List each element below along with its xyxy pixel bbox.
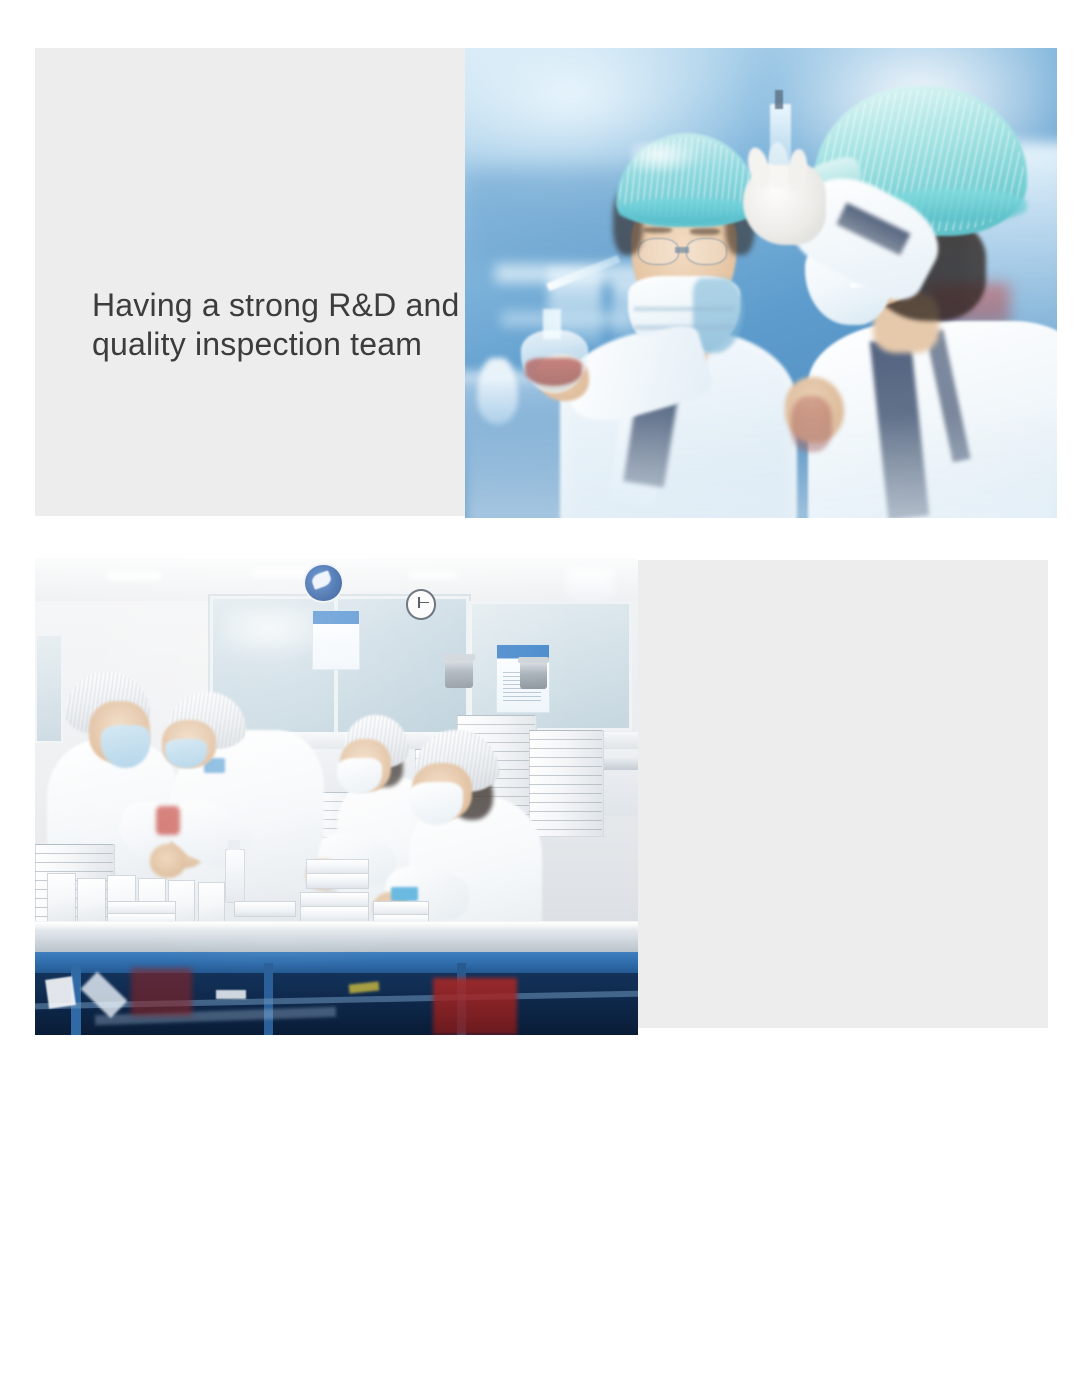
worker-left-eyebrow-left	[643, 227, 673, 233]
lab-shelf-lower	[501, 311, 631, 327]
lab-scene	[465, 48, 1057, 518]
worker-left-mask-pleat-1	[634, 307, 735, 311]
rnd-caption-text: Having a strong R&D and quality inspecti…	[92, 286, 482, 364]
worker-left-eyeglass-left	[638, 238, 679, 264]
slide-canvas: Having a strong R&D and quality inspecti…	[0, 0, 1080, 1080]
worker-left-eyebrow-right	[690, 228, 720, 234]
worker-left-eyeglass-bridge	[675, 247, 689, 253]
packing-scene	[35, 558, 638, 1035]
worker-left-eyeglass-right	[686, 238, 727, 264]
warehouse-caption-panel: a warehouse distribution area a warehous…	[600, 560, 1048, 1028]
rnd-caption-panel: Having a strong R&D and quality inspecti…	[35, 48, 470, 516]
lab-quality-inspection-photo	[465, 48, 1057, 518]
packing-scene-haze	[35, 558, 638, 1035]
lab-foreground-haze	[465, 415, 1057, 518]
worker-left-hairnet-band	[618, 198, 757, 223]
warehouse-packing-photo	[35, 558, 638, 1035]
sample-vial	[770, 104, 791, 165]
worker-left-hairnet-highlight	[631, 142, 702, 175]
sample-vial-tip	[775, 90, 783, 109]
laboratory-flask-neck	[543, 309, 561, 340]
